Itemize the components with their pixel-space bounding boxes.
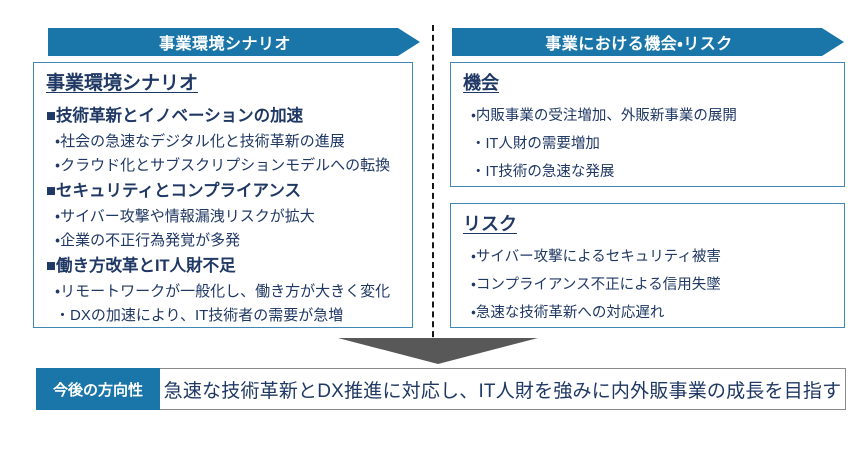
conclusion-tag-label: 今後の方向性 <box>36 368 160 410</box>
scenario-group-workstyle: ■働き方改革とIT人財不足 ・リモートワークが一般化し、働き方が大きく変化 ・D… <box>46 254 400 328</box>
risk-panel: リスク ・サイバー攻撃によるセキュリティ被害 ・コンプライアンス不正による信用失… <box>450 203 845 328</box>
scenario-heading: ■技術革新とイノベーションの加速 <box>46 104 400 129</box>
risk-bullet: ・コンプライアンス不正による信用失墜 <box>471 271 832 299</box>
scenario-bullet: ・企業の不正行為発覚が多発 <box>55 229 400 253</box>
scenario-bullet: ・社会の急速なデジタル化と技術革新の進展 <box>55 130 400 154</box>
scenario-heading: ■セキュリティとコンプライアンス <box>46 179 400 204</box>
risk-title: リスク <box>463 213 517 236</box>
scenario-bullet: ・リモートワークが一般化し、働き方が大きく変化 <box>55 280 400 304</box>
scenario-heading: ■働き方改革とIT人財不足 <box>46 254 400 279</box>
risk-bullet: ・急速な技術革新への対応遅れ <box>471 299 832 327</box>
business-environment-scenario-content: 事業環境シナリオ ■技術革新とイノベーションの加速 ・社会の急速なデジタル化と技… <box>34 63 412 335</box>
scenario-bullet: ・クラウド化とサブスクリプションモデルへの転換 <box>55 154 400 178</box>
down-arrow-icon <box>338 338 538 364</box>
opportunity-bullet: ・内販事業の受注増加、外販新事業の展開 <box>471 102 832 130</box>
vertical-dashed-divider <box>432 25 434 347</box>
opportunity-bullet: ・IT技術の急速な発展 <box>471 158 832 186</box>
opportunity-content: 機会 ・内販事業の受注増加、外販新事業の展開 ・IT人財の需要増加 ・IT技術の… <box>451 63 844 192</box>
opportunity-panel: 機会 ・内販事業の受注増加、外販新事業の展開 ・IT人財の需要増加 ・IT技術の… <box>450 62 845 187</box>
scenario-group-technology: ■技術革新とイノベーションの加速 ・社会の急速なデジタル化と技術革新の進展 ・ク… <box>46 104 400 178</box>
left-section-banner-label: 事業環境シナリオ <box>159 30 291 54</box>
business-environment-scenario-title: 事業環境シナリオ <box>46 72 198 96</box>
right-section-banner: 事業における機会・リスク <box>452 28 844 56</box>
scenario-group-security: ■セキュリティとコンプライアンス ・サイバー攻撃や情報漏洩リスクが拡大 ・企業の… <box>46 179 400 253</box>
conclusion-bar: 今後の方向性 急速な技術革新とDX推進に対応し、IT人財を強みに内外販事業の成長… <box>36 368 846 410</box>
right-section-banner-label: 事業における機会・リスク <box>545 30 732 54</box>
opportunity-title: 機会 <box>463 72 499 95</box>
scenario-bullet: ・サイバー攻撃や情報漏洩リスクが拡大 <box>55 205 400 229</box>
business-environment-scenario-panel: 事業環境シナリオ ■技術革新とイノベーションの加速 ・社会の急速なデジタル化と技… <box>33 62 413 328</box>
risk-content: リスク ・サイバー攻撃によるセキュリティ被害 ・コンプライアンス不正による信用失… <box>451 204 844 333</box>
risk-bullet: ・サイバー攻撃によるセキュリティ被害 <box>471 243 832 271</box>
opportunity-bullet: ・IT人財の需要増加 <box>471 130 832 158</box>
slide-canvas: 事業環境シナリオ 事業環境シナリオ ■技術革新とイノベーションの加速 ・社会の急… <box>0 0 867 450</box>
scenario-bullet: ・DXの加速により、IT技術者の需要が急増 <box>55 304 400 328</box>
conclusion-text: 急速な技術革新とDX推進に対応し、IT人財を強みに内外販事業の成長を目指す <box>160 368 846 410</box>
left-section-banner: 事業環境シナリオ <box>48 28 420 56</box>
